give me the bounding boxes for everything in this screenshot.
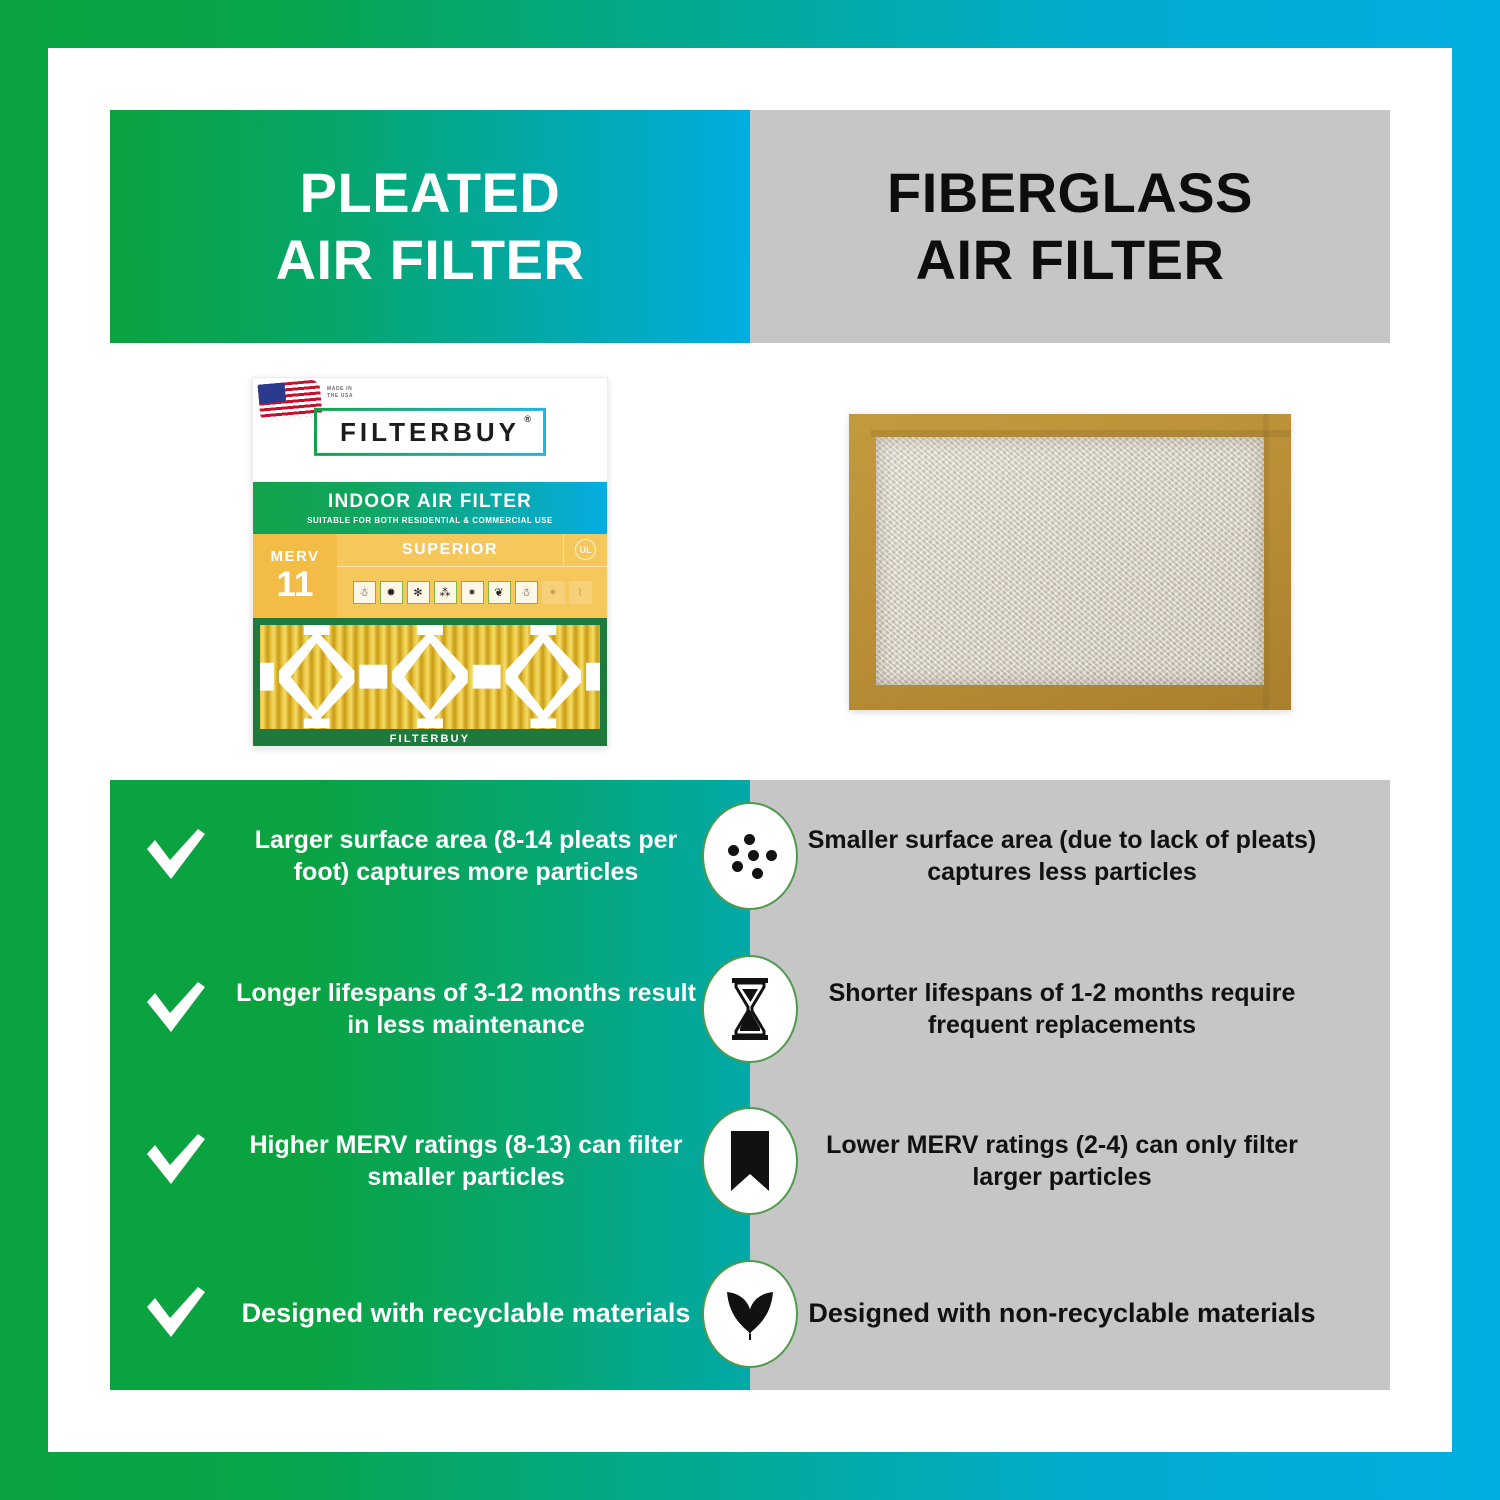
fiberglass-drawback-text: Smaller surface area (due to lack of ple… xyxy=(804,824,1320,888)
grade-row: SUPERIOR UL xyxy=(337,534,607,567)
fiberglass-drawback-text: Designed with non-recyclable materials xyxy=(804,1296,1320,1331)
comparison-panel: Larger surface area (8-14 pleats per foo… xyxy=(110,780,1390,1390)
trademark-symbol: ® xyxy=(524,413,531,423)
bacteria-icon: ⁕ xyxy=(461,581,484,604)
fiberglass-frame-seam-top xyxy=(871,430,1291,437)
comparison-row-right: Smaller surface area (due to lack of ple… xyxy=(750,780,1390,933)
comparison-icon-badge xyxy=(702,955,798,1063)
hourglass-icon xyxy=(728,978,772,1040)
fiberglass-product-cell xyxy=(750,343,1390,780)
fiberglass-media xyxy=(876,437,1264,685)
comparison-row-left: Designed with recyclable materials xyxy=(110,1238,750,1391)
pleated-media-section: FILTERBUY xyxy=(253,618,607,747)
pleated-benefit-text: Larger surface area (8-14 pleats per foo… xyxy=(224,824,708,888)
comparison-icon-badge xyxy=(702,1260,798,1368)
package-indoor-band: INDOOR AIR FILTER SUITABLE FOR BOTH RESI… xyxy=(253,482,607,534)
odor-icon: ⌇ xyxy=(569,581,592,604)
pet-dander-icon: ❦ xyxy=(488,581,511,604)
support-grid-icon xyxy=(260,625,600,728)
leaf-icon xyxy=(722,1286,778,1342)
filterbuy-logo: FILTERBUY® xyxy=(314,408,546,456)
comparison-row-right: Lower MERV ratings (2-4) can only filter… xyxy=(750,1085,1390,1238)
dust-icon: ☃ xyxy=(353,581,376,604)
comparison-rows: Larger surface area (8-14 pleats per foo… xyxy=(110,780,1390,1390)
checkmark-wrapper xyxy=(144,1134,208,1188)
checkmark-icon xyxy=(145,1134,207,1188)
comparison-icon-badge xyxy=(702,802,798,910)
bookmark-icon xyxy=(728,1131,772,1191)
merv-right-column: SUPERIOR UL ☃✹✻⁂⁕❦☃●⌇ xyxy=(337,534,607,618)
merv-label: MERV xyxy=(270,549,319,564)
header-pleated-title: PLEATED AIR FILTER xyxy=(276,160,585,292)
comparison-row-left: Longer lifespans of 3-12 months result i… xyxy=(110,933,750,1086)
indoor-air-filter-subtitle: SUITABLE FOR BOTH RESIDENTIAL & COMMERCI… xyxy=(307,516,553,525)
checkmark-wrapper xyxy=(144,982,208,1036)
particles-icon xyxy=(722,830,778,882)
pleat-texture xyxy=(260,625,600,729)
merv-badge: MERV 11 xyxy=(253,534,337,618)
made-in-usa-label: MADE IN THE USA xyxy=(327,386,353,401)
package-footer-brand: FILTERBUY xyxy=(253,733,607,745)
indoor-air-filter-title: INDOOR AIR FILTER xyxy=(328,491,532,513)
fiberglass-drawback-text: Lower MERV ratings (2-4) can only filter… xyxy=(804,1129,1320,1193)
grade-label: SUPERIOR xyxy=(337,541,563,559)
comparison-row: Designed with recyclable materialsDesign… xyxy=(110,1238,1390,1391)
comparison-icon-badge xyxy=(702,1107,798,1215)
pleated-benefit-text: Longer lifespans of 3-12 months result i… xyxy=(224,977,708,1041)
mold-spores-icon: ⁂ xyxy=(434,581,457,604)
captures-icon-row: ☃✹✻⁂⁕❦☃●⌇ xyxy=(337,567,607,618)
package-merv-section: MERV 11 SUPERIOR UL ☃✹✻⁂⁕❦☃●⌇ xyxy=(253,534,607,618)
checkmark-icon xyxy=(145,1287,207,1341)
checkmark-wrapper xyxy=(144,829,208,883)
smoke-icon: ☃ xyxy=(515,581,538,604)
checkmark-icon xyxy=(145,829,207,883)
infographic-canvas: PLEATED AIR FILTER FIBERGLASS AIR FILTER… xyxy=(0,0,1500,1500)
header-band: PLEATED AIR FILTER FIBERGLASS AIR FILTER xyxy=(110,110,1390,343)
merv-value: 11 xyxy=(277,567,314,602)
package-top-section: MADE IN THE USA FILTERBUY® xyxy=(253,378,607,482)
ul-mark-icon: UL xyxy=(575,539,596,560)
fiberglass-drawback-text: Shorter lifespans of 1-2 months require … xyxy=(804,977,1320,1041)
pleated-benefit-text: Designed with recyclable materials xyxy=(224,1296,708,1331)
comparison-row: Larger surface area (8-14 pleats per foo… xyxy=(110,780,1390,933)
comparison-row-left: Larger surface area (8-14 pleats per foo… xyxy=(110,780,750,933)
virus-icon: ● xyxy=(542,581,565,604)
checkmark-wrapper xyxy=(144,1287,208,1341)
comparison-row-right: Shorter lifespans of 1-2 months require … xyxy=(750,933,1390,1086)
comparison-row-right: Designed with non-recyclable materials xyxy=(750,1238,1390,1391)
fiberglass-filter-image xyxy=(849,414,1291,710)
checkmark-icon xyxy=(145,982,207,1036)
header-fiberglass: FIBERGLASS AIR FILTER xyxy=(750,110,1390,343)
usa-flag-icon xyxy=(258,379,323,420)
product-image-row: MADE IN THE USA FILTERBUY® INDOOR AIR FI… xyxy=(110,343,1390,780)
pollen-icon: ✻ xyxy=(407,581,430,604)
filterbuy-logo-text: FILTERBUY xyxy=(340,416,520,446)
header-fiberglass-title: FIBERGLASS AIR FILTER xyxy=(887,160,1253,292)
pleated-product-cell: MADE IN THE USA FILTERBUY® INDOOR AIR FI… xyxy=(110,343,750,780)
comparison-row: Higher MERV ratings (8-13) can filter sm… xyxy=(110,1085,1390,1238)
comparison-row-left: Higher MERV ratings (8-13) can filter sm… xyxy=(110,1085,750,1238)
header-pleated: PLEATED AIR FILTER xyxy=(110,110,750,343)
ul-certification: UL xyxy=(563,534,607,566)
pleated-benefit-text: Higher MERV ratings (8-13) can filter sm… xyxy=(224,1129,708,1193)
comparison-row: Longer lifespans of 3-12 months result i… xyxy=(110,933,1390,1086)
insect-icon: ✹ xyxy=(380,581,403,604)
pleated-filter-package: MADE IN THE USA FILTERBUY® INDOOR AIR FI… xyxy=(252,377,608,747)
